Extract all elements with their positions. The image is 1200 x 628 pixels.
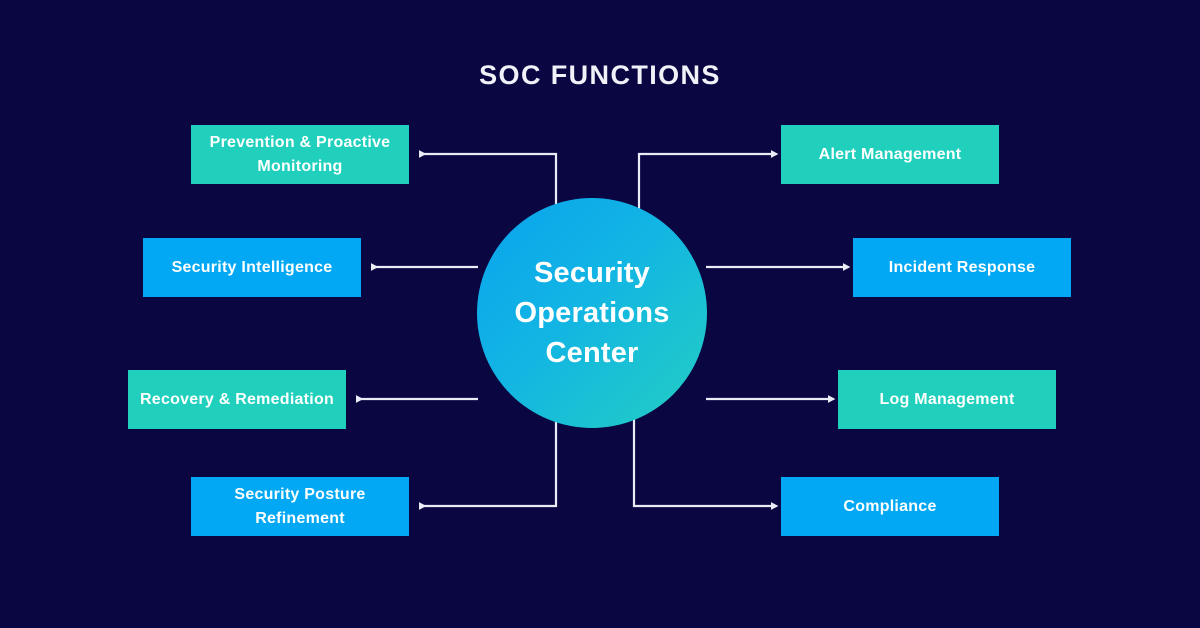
- node-label: Incident Response: [853, 256, 1071, 279]
- node-label: Security Intelligence: [143, 256, 361, 279]
- node-label: Security Posture Refinement: [191, 483, 409, 529]
- diagram-canvas: SOC FUNCTIONS: [0, 0, 1200, 628]
- node-log-management[interactable]: Log Management: [838, 370, 1056, 429]
- node-alert-management[interactable]: Alert Management: [781, 125, 999, 184]
- node-label: Log Management: [838, 388, 1056, 411]
- node-label: Alert Management: [781, 143, 999, 166]
- node-label: Prevention & Proactive Monitoring: [191, 131, 409, 177]
- node-incident-response[interactable]: Incident Response: [853, 238, 1071, 297]
- node-label: Recovery & Remediation: [128, 388, 346, 411]
- node-prevention-proactive-monitoring[interactable]: Prevention & Proactive Monitoring: [191, 125, 409, 184]
- hub-label: Security Operations Center: [492, 253, 692, 373]
- node-recovery-remediation[interactable]: Recovery & Remediation: [128, 370, 346, 429]
- node-security-posture-refinement[interactable]: Security Posture Refinement: [191, 477, 409, 536]
- node-security-intelligence[interactable]: Security Intelligence: [143, 238, 361, 297]
- hub-security-operations-center[interactable]: Security Operations Center: [477, 198, 707, 428]
- node-compliance[interactable]: Compliance: [781, 477, 999, 536]
- node-label: Compliance: [781, 495, 999, 518]
